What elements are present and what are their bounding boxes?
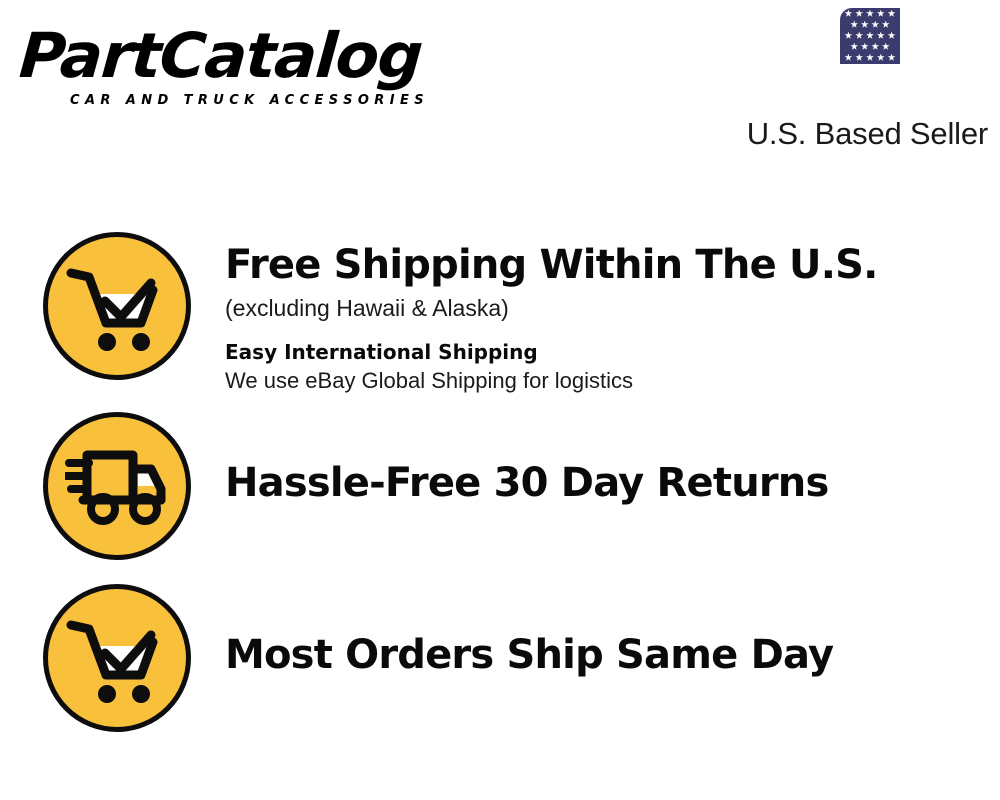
shopping-cart-check-icon [43, 232, 191, 380]
delivery-truck-icon [43, 412, 191, 560]
feature-subtext: (excluding Hawaii & Alaska) [225, 292, 1000, 324]
us-based-seller-badge: U.S. Based Seller [698, 8, 988, 152]
flag-star-row [840, 41, 900, 52]
shopping-cart-check-icon [43, 584, 191, 732]
brand-logo[interactable]: PartCatalog CAR AND TRUCK ACCESSORIES [22, 22, 492, 118]
us-flag-icon [840, 8, 988, 112]
flag-canton [840, 8, 900, 64]
feature-secondary-subtext: We use eBay Global Shipping for logistic… [225, 366, 1000, 396]
feature-secondary-heading: Easy International Shipping [225, 338, 1000, 366]
flag-star-row [840, 19, 900, 30]
feature-row: Hassle-Free 30 Day Returns [0, 412, 1000, 560]
us-based-seller-label: U.S. Based Seller [698, 116, 988, 152]
feature-heading: Most Orders Ship Same Day [225, 632, 1000, 678]
feature-text-block: Most Orders Ship Same Day [191, 584, 1000, 678]
feature-heading: Free Shipping Within The U.S. [225, 242, 1000, 288]
flag-star-row [840, 52, 900, 63]
feature-heading: Hassle-Free 30 Day Returns [225, 460, 1000, 506]
brand-wordmark: PartCatalog [17, 22, 501, 90]
brand-tagline: CAR AND TRUCK ACCESSORIES [70, 93, 492, 108]
feature-row: Most Orders Ship Same Day [0, 584, 1000, 732]
flag-star-row [840, 8, 900, 19]
feature-text-block: Free Shipping Within The U.S. (excluding… [191, 232, 1000, 396]
feature-row: Free Shipping Within The U.S. (excluding… [0, 232, 1000, 396]
feature-text-block: Hassle-Free 30 Day Returns [191, 412, 1000, 506]
flag-star-row [840, 30, 900, 41]
